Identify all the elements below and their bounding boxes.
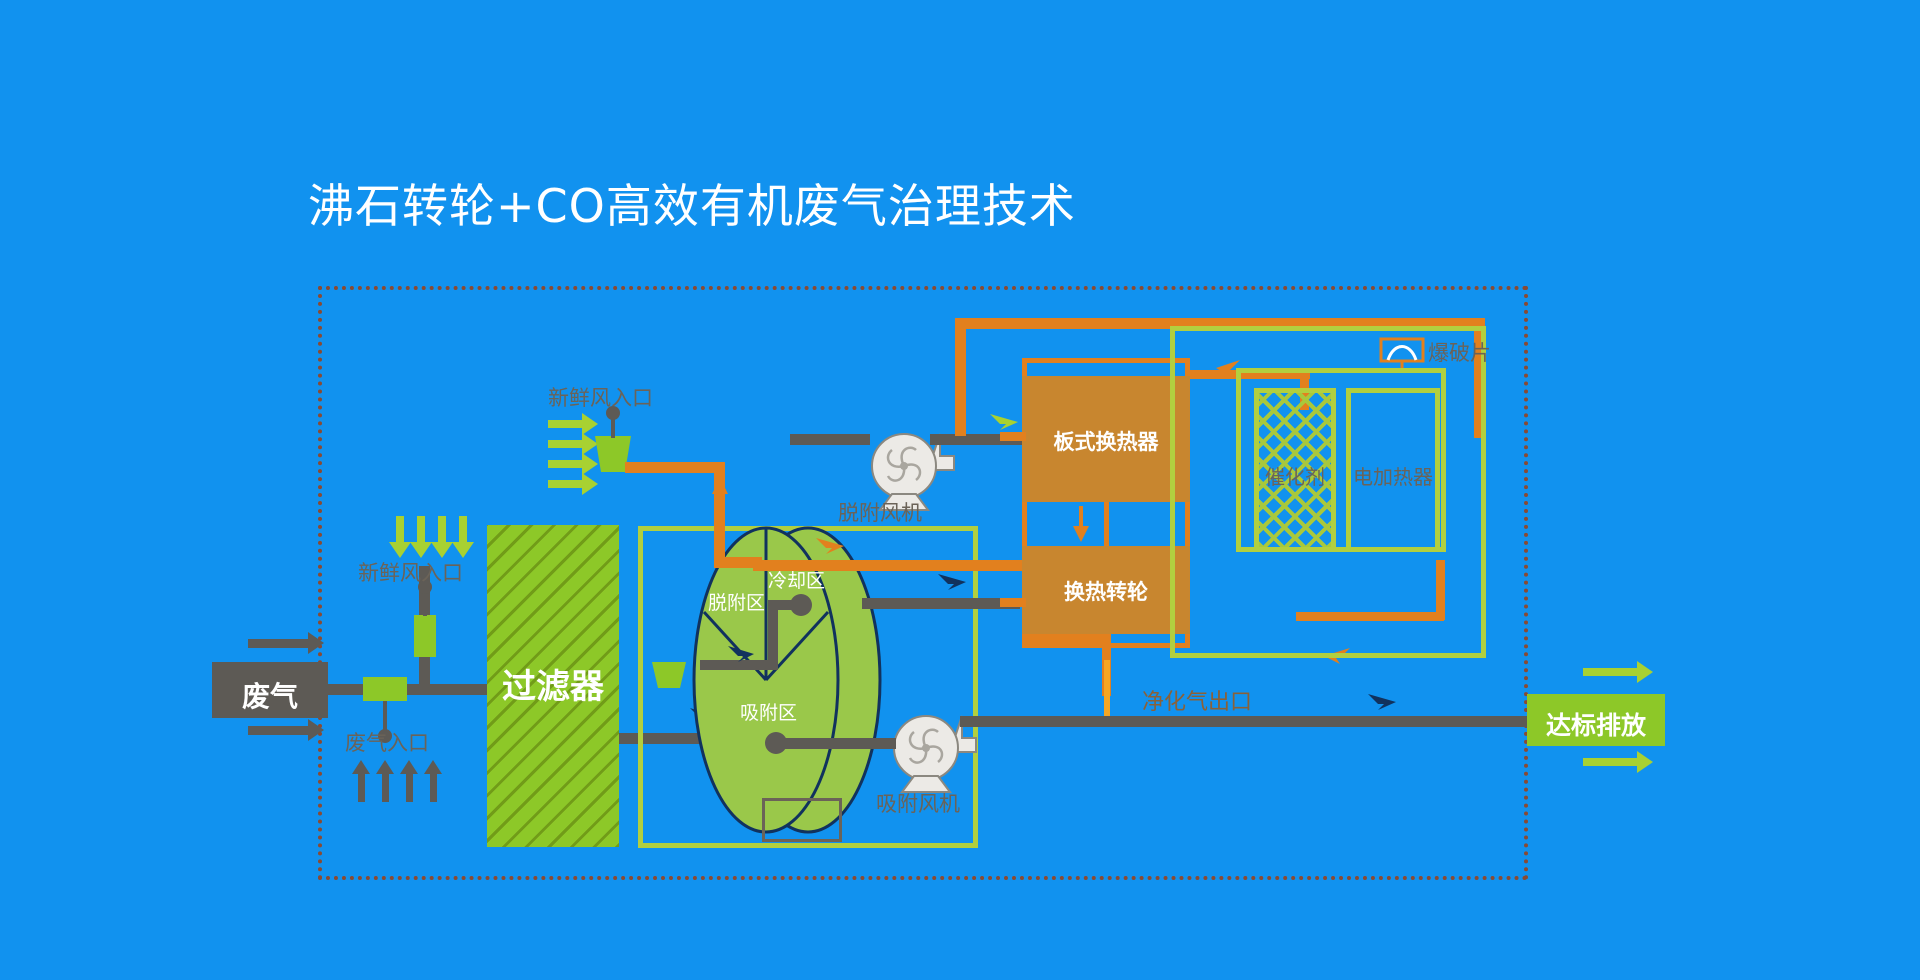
fresh-air-inlet-label-top: 新鲜风入口 xyxy=(548,382,653,412)
waste-gas-inlet-pipe xyxy=(328,684,488,695)
waste-gas-up-arrow-2 xyxy=(382,772,389,802)
rotor-desorption-zone-label: 脱附区 xyxy=(708,588,765,615)
fresh-air-top-arrow-2 xyxy=(548,440,584,448)
fresh-air-top-arrow-4 xyxy=(548,480,584,488)
fresh-air-down-arrow-3 xyxy=(438,516,446,544)
rotor-base-support xyxy=(762,798,842,842)
fresh-air-down-arrow-2 xyxy=(417,516,425,544)
hx-left-stub-lower xyxy=(1000,598,1026,607)
hx-top-loop-vertical-left xyxy=(955,318,966,436)
rotor-desorb-navy-arrow xyxy=(690,644,754,662)
plate-heat-exchanger-body: 板式换热器 xyxy=(1022,376,1190,502)
adsorption-fan-discharge-pipe xyxy=(960,716,1020,727)
heat-exchange-rotor-body: 换热转轮 xyxy=(1022,546,1190,634)
diagram-canvas: 沸石转轮+CO高效有机废气治理技术 废气 新鲜风入口 废气入口 过滤器 xyxy=(0,0,1920,980)
compliant-discharge-box: 达标排放 xyxy=(1527,694,1665,746)
waste-gas-up-arrow-4 xyxy=(430,772,437,802)
discharge-arrow-top xyxy=(1583,668,1639,676)
fresh-air-inlet-label-left: 新鲜风入口 xyxy=(358,557,463,587)
adsorption-fan-label: 吸附风机 xyxy=(876,788,960,818)
heat-exchange-rotor-label: 换热转轮 xyxy=(1022,576,1190,606)
desorbed-gas-arrow xyxy=(778,536,844,554)
waste-gas-up-arrow-3 xyxy=(406,772,413,802)
compliant-discharge-label: 达标排放 xyxy=(1527,706,1665,742)
hx-mid-down-arrow xyxy=(1072,506,1090,542)
waste-gas-source-box: 废气 xyxy=(212,662,328,718)
clean-gas-outlet-label: 净化气出口 xyxy=(1142,684,1252,716)
desorption-air-pipe-horizontal xyxy=(625,462,725,473)
rotor-cooling-outlet-pipe xyxy=(862,598,1020,609)
filter-label: 过滤器 xyxy=(487,659,619,708)
rotor-cooling-outlet-arrow xyxy=(898,572,966,590)
fresh-air-down-arrow-4 xyxy=(459,516,467,544)
fresh-air-top-damper-knob xyxy=(606,406,620,420)
fresh-air-top-arrow-1 xyxy=(548,420,584,428)
waste-gas-up-arrow-1 xyxy=(358,772,365,802)
desorption-air-up-arrow xyxy=(710,478,730,522)
desorption-fan-label: 脱附风机 xyxy=(838,497,922,527)
catalyst-label: 催化剂 xyxy=(1255,461,1335,490)
rotor-adsorption-zone-label: 吸附区 xyxy=(740,698,797,725)
waste-gas-label: 废气 xyxy=(212,675,328,715)
plate-heat-exchanger-label: 板式换热器 xyxy=(1022,426,1190,456)
rupture-disc-label: 爆破片 xyxy=(1428,337,1491,367)
fresh-air-top-arrow-3 xyxy=(548,460,584,468)
fresh-air-inlet-damper xyxy=(414,615,436,657)
hx-left-stub-upper xyxy=(1000,432,1026,441)
fresh-air-down-arrow-1 xyxy=(396,516,404,544)
hx-bottom-outlet-left xyxy=(1022,634,1110,643)
electric-heater-chamber: 电加热器 xyxy=(1346,388,1440,552)
filter-unit: 过滤器 xyxy=(487,525,619,847)
clean-gas-outlet-main-pipe xyxy=(1020,716,1532,727)
waste-gas-inlet-damper xyxy=(363,677,407,701)
hx-mid-divider xyxy=(1104,502,1109,546)
discharge-arrow-bottom xyxy=(1583,758,1639,766)
electric-heater-label: 电加热器 xyxy=(1333,461,1453,490)
catalyst-bed: 催化剂 xyxy=(1254,388,1336,552)
waste-gas-inlet-label: 废气入口 xyxy=(345,727,429,757)
desorbed-gas-pipe-top-horizontal xyxy=(753,560,1023,571)
adsorption-fan-suction-pipe xyxy=(776,738,896,749)
clean-gas-riser-marker xyxy=(1104,660,1110,716)
rupture-disc-icon xyxy=(1380,338,1424,368)
page-title: 沸石转轮+CO高效有机废气治理技术 xyxy=(308,178,1076,234)
rotor-left-damper xyxy=(652,662,686,688)
desorption-fan-inlet-pipe xyxy=(790,434,870,445)
waste-gas-arrow-top xyxy=(248,639,310,648)
clean-gas-outlet-arrow xyxy=(1328,692,1396,710)
waste-gas-arrow-bottom xyxy=(248,726,310,735)
